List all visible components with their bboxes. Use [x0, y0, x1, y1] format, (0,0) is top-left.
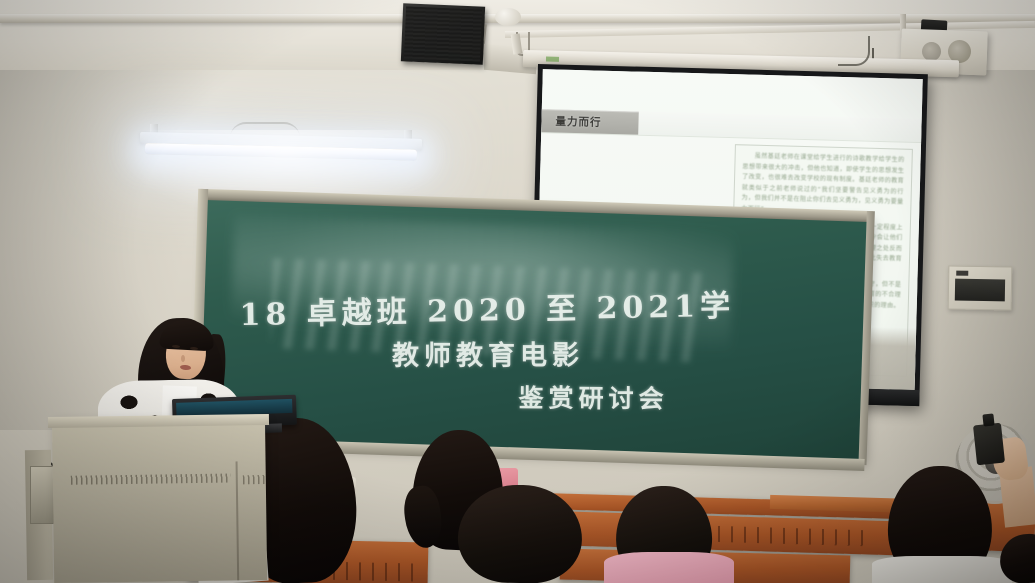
slide-title-tab: 量力而行 — [541, 109, 639, 135]
slide-title-text: 量力而行 — [555, 113, 601, 129]
ceiling-rail-knob — [495, 8, 521, 26]
wall-panel-display — [955, 279, 1005, 302]
ceiling-speaker-panel — [401, 3, 485, 64]
podium-top-surface — [48, 414, 269, 428]
screen-power-wire — [838, 36, 870, 66]
podium-equipment-box — [30, 466, 54, 524]
speaker-grille — [404, 6, 482, 61]
blackboard-text-line-3: 鉴赏研讨会 — [518, 378, 668, 415]
podium-vent-left — [71, 474, 231, 485]
podium-vent-right — [243, 475, 267, 484]
projector-lens-primary — [922, 42, 941, 61]
student-collar-right — [872, 556, 1012, 583]
wall-panel-led-icon — [956, 271, 968, 276]
podium-panel-seam — [236, 461, 240, 580]
lecture-podium — [52, 421, 267, 583]
blackboard-text-line-2: 教师教育电影 — [392, 333, 584, 372]
handheld-camera — [973, 423, 1005, 466]
classroom-photo-scene: 量力而行 量力而行 批判传统教育的固执与压抑 但不提倡偏激或个人英雄主义 虽然基… — [0, 0, 1035, 583]
roller-brand-badge — [546, 57, 559, 62]
student-pink-jacket — [604, 552, 734, 583]
wall-control-panel[interactable] — [948, 265, 1013, 310]
presenter-nose — [181, 355, 185, 362]
camera-lens-icon — [982, 413, 994, 426]
